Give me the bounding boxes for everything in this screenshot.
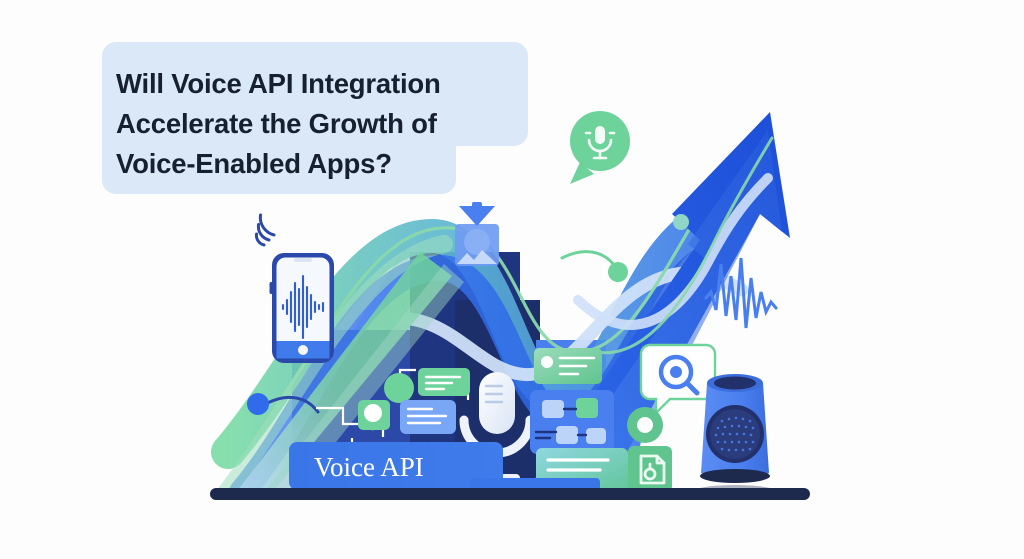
voice-document-icon: [628, 446, 672, 492]
blue-node-card: [530, 390, 614, 454]
illustration-stage: Voice API: [0, 0, 1024, 559]
green-ring-node: [627, 407, 663, 443]
green-list-card: [534, 348, 602, 384]
arrow-accent-dot: [673, 214, 689, 230]
voice-api-label: Voice API: [314, 452, 424, 482]
ground-baseline: [210, 488, 810, 500]
